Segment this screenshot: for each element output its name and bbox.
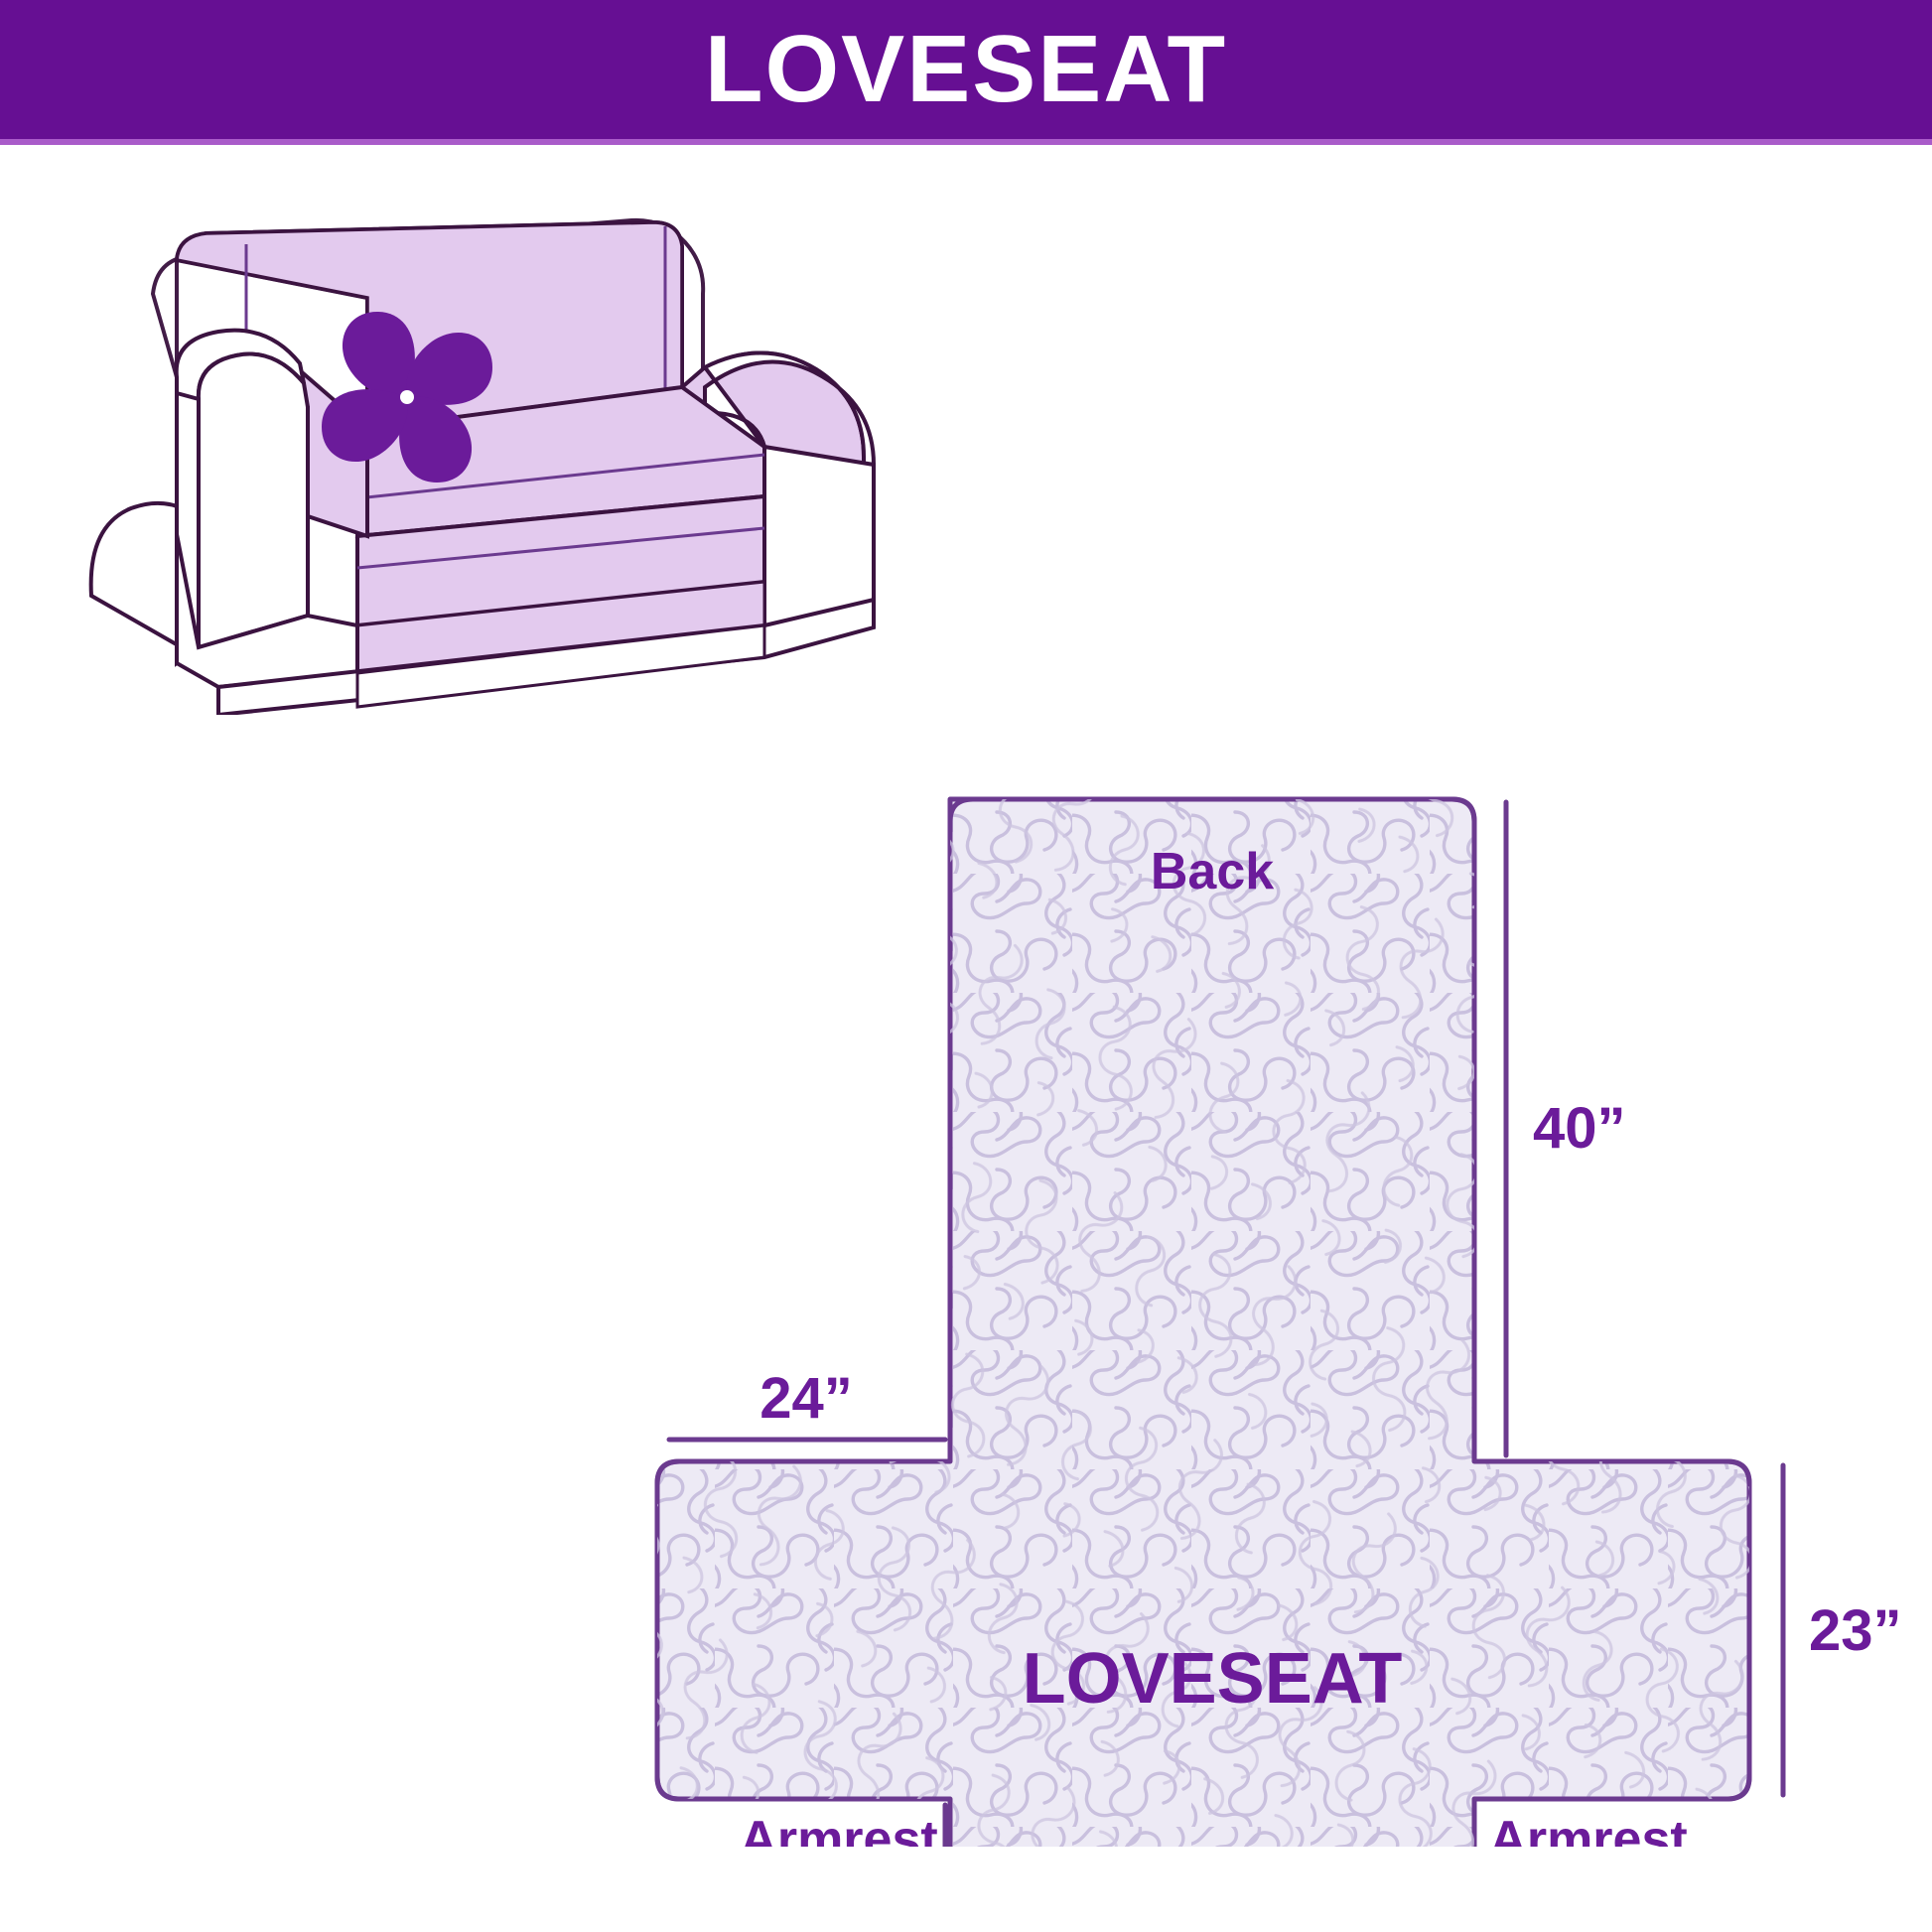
cover-layout-diagram: Back LOVESEAT Armrest Armrest Front 40” bbox=[596, 755, 1932, 1847]
loveseat-illustration bbox=[69, 199, 993, 715]
pinwheel-flower-logo bbox=[322, 312, 492, 483]
dimension-label-armrest-height: 23” bbox=[1809, 1598, 1902, 1663]
panel-label-armrest-right: Armrest bbox=[1489, 1811, 1687, 1847]
dimension-label-back-width: 24” bbox=[759, 1366, 853, 1431]
panel-label-armrest-left: Armrest bbox=[740, 1811, 937, 1847]
panel-label-back: Back bbox=[1151, 843, 1274, 900]
header-banner: LOVESEAT bbox=[0, 0, 1932, 139]
dimension-label-back-height: 40” bbox=[1533, 1096, 1626, 1161]
sofa-left-arm-inner bbox=[199, 354, 308, 647]
header-underline bbox=[0, 139, 1932, 145]
slipcover-size-chart: LOVESEAT bbox=[0, 0, 1932, 1932]
page-title: LOVESEAT bbox=[705, 22, 1227, 117]
panel-label-center: LOVESEAT bbox=[1023, 1639, 1403, 1719]
